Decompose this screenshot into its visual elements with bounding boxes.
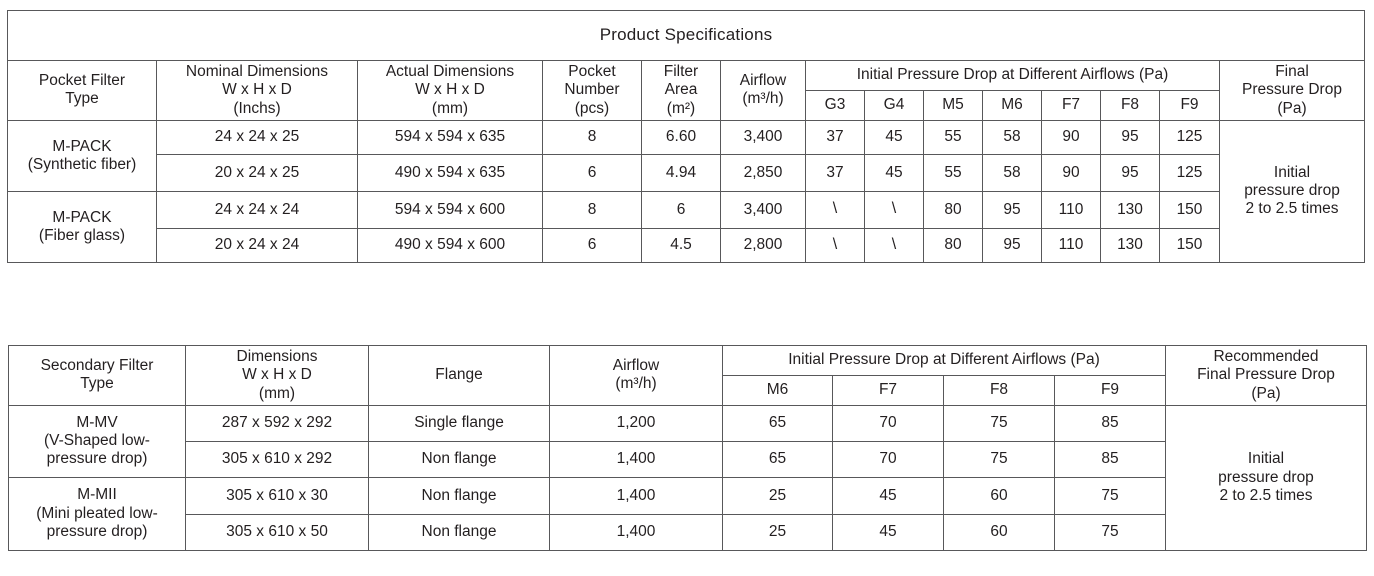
header-recommended-final-pressure-drop: RecommendedFinal Pressure Drop(Pa) xyxy=(1166,346,1367,406)
cell-pressure-m6: 95 xyxy=(983,191,1042,228)
cell-actual: 490 x 594 x 635 xyxy=(358,154,543,191)
recommended-final-pressure-drop-note: Initialpressure drop2 to 2.5 times xyxy=(1166,405,1367,550)
cell-flange: Non flange xyxy=(369,477,550,514)
header-grade-m6: M6 xyxy=(723,375,833,405)
cell-pressure-g4: \ xyxy=(865,228,924,262)
cell-pressure-f7: 70 xyxy=(833,441,944,477)
cell-actual: 490 x 594 x 600 xyxy=(358,228,543,262)
cell-pressure-m6: 58 xyxy=(983,154,1042,191)
cell-airflow: 1,400 xyxy=(550,514,723,550)
cell-pressure-f8: 130 xyxy=(1101,228,1160,262)
cell-dimensions: 305 x 610 x 30 xyxy=(186,477,369,514)
row-group-label-m-mii: M-MII(Mini pleated low-pressure drop) xyxy=(9,477,186,550)
product-specifications-title: Product Specifications xyxy=(8,11,1365,61)
header-grade-f8: F8 xyxy=(1101,90,1160,120)
cell-area: 6.60 xyxy=(642,120,721,154)
cell-pressure-m6: 65 xyxy=(723,405,833,441)
header-initial-pressure-drop-group: Initial Pressure Drop at Different Airfl… xyxy=(806,61,1220,91)
cell-pressure-f7: 110 xyxy=(1042,191,1101,228)
cell-airflow: 3,400 xyxy=(721,191,806,228)
header-grade-f9: F9 xyxy=(1055,375,1166,405)
cell-pressure-f9: 75 xyxy=(1055,514,1166,550)
table-row: M-MV(V-Shaped low-pressure drop) 287 x 5… xyxy=(9,405,1367,441)
cell-pressure-m6: 95 xyxy=(983,228,1042,262)
header-pocket-number: PocketNumber(pcs) xyxy=(543,61,642,121)
table-row: M-PACK(Fiber glass) 24 x 24 x 24 594 x 5… xyxy=(8,191,1365,228)
cell-dimensions: 287 x 592 x 292 xyxy=(186,405,369,441)
header-actual-dimensions: Actual DimensionsW x H x D(mm) xyxy=(358,61,543,121)
cell-pressure-m6: 65 xyxy=(723,441,833,477)
header-initial-pressure-drop-group: Initial Pressure Drop at Different Airfl… xyxy=(723,346,1166,376)
cell-nominal: 24 x 24 x 24 xyxy=(157,191,358,228)
cell-airflow: 1,400 xyxy=(550,477,723,514)
header-grade-f9: F9 xyxy=(1160,90,1220,120)
secondary-filter-table: Secondary FilterType DimensionsW x H x D… xyxy=(8,345,1367,551)
cell-pressure-f8: 95 xyxy=(1101,120,1160,154)
table-row: M-MII(Mini pleated low-pressure drop) 30… xyxy=(9,477,1367,514)
cell-pressure-m6: 25 xyxy=(723,477,833,514)
cell-airflow: 3,400 xyxy=(721,120,806,154)
cell-pressure-f8: 75 xyxy=(944,441,1055,477)
header-grade-f8: F8 xyxy=(944,375,1055,405)
table1-title-row: Product Specifications xyxy=(8,11,1365,61)
cell-airflow: 1,400 xyxy=(550,441,723,477)
cell-pressure-f7: 45 xyxy=(833,514,944,550)
cell-pressure-g4: 45 xyxy=(865,154,924,191)
cell-nominal: 24 x 24 x 25 xyxy=(157,120,358,154)
row-group-label-synthetic-fiber: M-PACK(Synthetic fiber) xyxy=(8,120,157,191)
header-grade-g4: G4 xyxy=(865,90,924,120)
table-row: 305 x 610 x 292 Non flange 1,400 65 70 7… xyxy=(9,441,1367,477)
table-row: 20 x 24 x 25 490 x 594 x 635 6 4.94 2,85… xyxy=(8,154,1365,191)
cell-pressure-f7: 45 xyxy=(833,477,944,514)
row-group-label-fiber-glass: M-PACK(Fiber glass) xyxy=(8,191,157,262)
cell-pockets: 8 xyxy=(543,120,642,154)
header-airflow: Airflow(m³/h) xyxy=(550,346,723,406)
header-grade-m6: M6 xyxy=(983,90,1042,120)
cell-pressure-m5: 55 xyxy=(924,120,983,154)
header-secondary-filter-type: Secondary FilterType xyxy=(9,346,186,406)
header-pocket-filter-type: Pocket FilterType xyxy=(8,61,157,121)
header-grade-f7: F7 xyxy=(1042,90,1101,120)
cell-pressure-f8: 130 xyxy=(1101,191,1160,228)
cell-pressure-f9: 125 xyxy=(1160,154,1220,191)
header-nominal-dimensions: Nominal DimensionsW x H x D(Inchs) xyxy=(157,61,358,121)
cell-pressure-f9: 150 xyxy=(1160,191,1220,228)
cell-pressure-f8: 60 xyxy=(944,514,1055,550)
cell-pressure-f9: 85 xyxy=(1055,441,1166,477)
cell-pressure-g3: \ xyxy=(806,191,865,228)
header-dimensions: DimensionsW x H x D(mm) xyxy=(186,346,369,406)
cell-pressure-g4: 45 xyxy=(865,120,924,154)
cell-pressure-f9: 150 xyxy=(1160,228,1220,262)
table2-header-row-1: Secondary FilterType DimensionsW x H x D… xyxy=(9,346,1367,376)
cell-pressure-f7: 90 xyxy=(1042,120,1101,154)
header-grade-m5: M5 xyxy=(924,90,983,120)
cell-area: 4.5 xyxy=(642,228,721,262)
cell-pressure-m6: 58 xyxy=(983,120,1042,154)
cell-flange: Non flange xyxy=(369,441,550,477)
cell-area: 6 xyxy=(642,191,721,228)
header-final-pressure-drop: FinalPressure Drop(Pa) xyxy=(1220,61,1365,121)
cell-nominal: 20 x 24 x 24 xyxy=(157,228,358,262)
cell-pressure-f9: 125 xyxy=(1160,120,1220,154)
header-flange: Flange xyxy=(369,346,550,406)
cell-pressure-m5: 55 xyxy=(924,154,983,191)
cell-pressure-f9: 85 xyxy=(1055,405,1166,441)
cell-pressure-f7: 70 xyxy=(833,405,944,441)
header-grade-g3: G3 xyxy=(806,90,865,120)
table1-header-row-1: Pocket FilterType Nominal DimensionsW x … xyxy=(8,61,1365,91)
row-group-label-m-mv: M-MV(V-Shaped low-pressure drop) xyxy=(9,405,186,477)
specification-sheet: Product Specifications Pocket FilterType… xyxy=(0,0,1374,576)
table-row: M-PACK(Synthetic fiber) 24 x 24 x 25 594… xyxy=(8,120,1365,154)
cell-pockets: 8 xyxy=(543,191,642,228)
cell-actual: 594 x 594 x 635 xyxy=(358,120,543,154)
cell-pressure-g3: 37 xyxy=(806,120,865,154)
header-filter-area: FilterArea(m²) xyxy=(642,61,721,121)
cell-pressure-m6: 25 xyxy=(723,514,833,550)
cell-airflow: 2,800 xyxy=(721,228,806,262)
table-row: 20 x 24 x 24 490 x 594 x 600 6 4.5 2,800… xyxy=(8,228,1365,262)
cell-actual: 594 x 594 x 600 xyxy=(358,191,543,228)
header-grade-f7: F7 xyxy=(833,375,944,405)
product-specifications-table: Product Specifications Pocket FilterType… xyxy=(7,10,1365,263)
cell-pressure-f8: 75 xyxy=(944,405,1055,441)
cell-pockets: 6 xyxy=(543,228,642,262)
cell-nominal: 20 x 24 x 25 xyxy=(157,154,358,191)
cell-airflow: 1,200 xyxy=(550,405,723,441)
cell-pressure-g4: \ xyxy=(865,191,924,228)
cell-pressure-f7: 110 xyxy=(1042,228,1101,262)
cell-pressure-g3: 37 xyxy=(806,154,865,191)
cell-dimensions: 305 x 610 x 50 xyxy=(186,514,369,550)
cell-airflow: 2,850 xyxy=(721,154,806,191)
final-pressure-drop-note: Initialpressure drop2 to 2.5 times xyxy=(1220,120,1365,262)
cell-pressure-g3: \ xyxy=(806,228,865,262)
cell-pressure-m5: 80 xyxy=(924,228,983,262)
cell-pressure-f8: 95 xyxy=(1101,154,1160,191)
table-row: 305 x 610 x 50 Non flange 1,400 25 45 60… xyxy=(9,514,1367,550)
cell-flange: Non flange xyxy=(369,514,550,550)
cell-pressure-f7: 90 xyxy=(1042,154,1101,191)
cell-pressure-f9: 75 xyxy=(1055,477,1166,514)
cell-dimensions: 305 x 610 x 292 xyxy=(186,441,369,477)
cell-pressure-f8: 60 xyxy=(944,477,1055,514)
cell-flange: Single flange xyxy=(369,405,550,441)
header-airflow: Airflow(m³/h) xyxy=(721,61,806,121)
cell-area: 4.94 xyxy=(642,154,721,191)
cell-pressure-m5: 80 xyxy=(924,191,983,228)
cell-pockets: 6 xyxy=(543,154,642,191)
